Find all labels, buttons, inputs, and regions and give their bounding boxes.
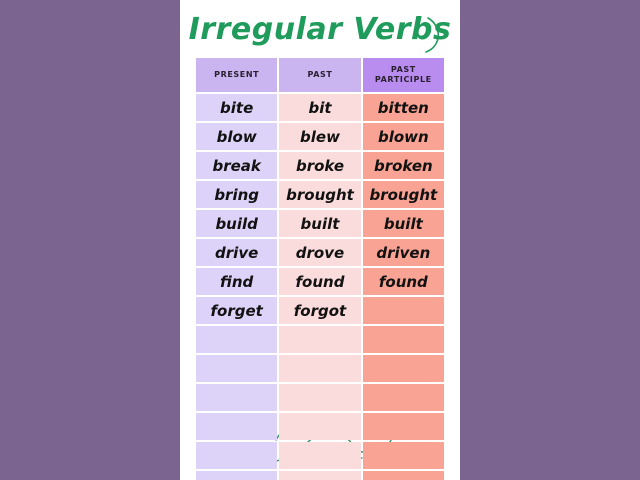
cell-past xyxy=(279,326,360,353)
table-row: blow blew blown xyxy=(196,123,444,150)
cell-participle xyxy=(363,297,444,324)
irregular-verbs-table: PRESENT PAST PAST PARTICIPLE bite bit bi… xyxy=(194,56,446,480)
cell-past xyxy=(279,413,360,440)
cell-present xyxy=(196,413,277,440)
cell-present: blow xyxy=(196,123,277,150)
cell-past xyxy=(279,355,360,382)
table-row xyxy=(196,355,444,382)
cell-present xyxy=(196,471,277,480)
cell-present xyxy=(196,326,277,353)
table-row xyxy=(196,471,444,480)
cell-past: built xyxy=(279,210,360,237)
cell-participle: driven xyxy=(363,239,444,266)
cell-past xyxy=(279,471,360,480)
cell-present: forget xyxy=(196,297,277,324)
column-header-present: PRESENT xyxy=(196,58,277,92)
cell-past: bit xyxy=(279,94,360,121)
cell-present xyxy=(196,384,277,411)
table-header-row: PRESENT PAST PAST PARTICIPLE xyxy=(196,58,444,92)
table-row xyxy=(196,413,444,440)
table-row: forget forgot xyxy=(196,297,444,324)
cell-past: blew xyxy=(279,123,360,150)
cell-participle: broken xyxy=(363,152,444,179)
column-header-past-participle-label-line1: PAST xyxy=(391,65,416,74)
cell-present: build xyxy=(196,210,277,237)
cell-past: found xyxy=(279,268,360,295)
cell-present xyxy=(196,355,277,382)
cell-present: bite xyxy=(196,94,277,121)
column-header-past-participle-label-line2: PARTICIPLE xyxy=(375,75,432,84)
column-header-past-label: PAST xyxy=(308,70,333,79)
cell-present: drive xyxy=(196,239,277,266)
page-title: Irregular Verbs xyxy=(180,12,460,47)
cell-past: broke xyxy=(279,152,360,179)
cell-present xyxy=(196,442,277,469)
cell-past: forgot xyxy=(279,297,360,324)
column-header-present-label: PRESENT xyxy=(214,70,259,79)
cell-participle xyxy=(363,326,444,353)
cell-participle: built xyxy=(363,210,444,237)
cell-past xyxy=(279,384,360,411)
table-row xyxy=(196,384,444,411)
cell-participle xyxy=(363,384,444,411)
cell-present: find xyxy=(196,268,277,295)
video-frame: Irregular Verbs PRESENT PAST PAST PA xyxy=(0,0,640,480)
content-card: Irregular Verbs PRESENT PAST PAST PA xyxy=(180,0,460,480)
table-row xyxy=(196,442,444,469)
cell-past: brought xyxy=(279,181,360,208)
cell-participle xyxy=(363,442,444,469)
table-row: break broke broken xyxy=(196,152,444,179)
cell-present: break xyxy=(196,152,277,179)
table-row xyxy=(196,326,444,353)
cell-past xyxy=(279,442,360,469)
cell-past: drove xyxy=(279,239,360,266)
cell-participle xyxy=(363,355,444,382)
table-row: bite bit bitten xyxy=(196,94,444,121)
table-row: build built built xyxy=(196,210,444,237)
cell-participle xyxy=(363,471,444,480)
column-header-past: PAST xyxy=(279,58,360,92)
cell-present: bring xyxy=(196,181,277,208)
table-row: drive drove driven xyxy=(196,239,444,266)
cell-participle: bitten xyxy=(363,94,444,121)
cell-participle xyxy=(363,413,444,440)
table-row: bring brought brought xyxy=(196,181,444,208)
cell-participle: found xyxy=(363,268,444,295)
cell-participle: blown xyxy=(363,123,444,150)
cell-participle: brought xyxy=(363,181,444,208)
column-header-past-participle: PAST PARTICIPLE xyxy=(363,58,444,92)
table-row: find found found xyxy=(196,268,444,295)
